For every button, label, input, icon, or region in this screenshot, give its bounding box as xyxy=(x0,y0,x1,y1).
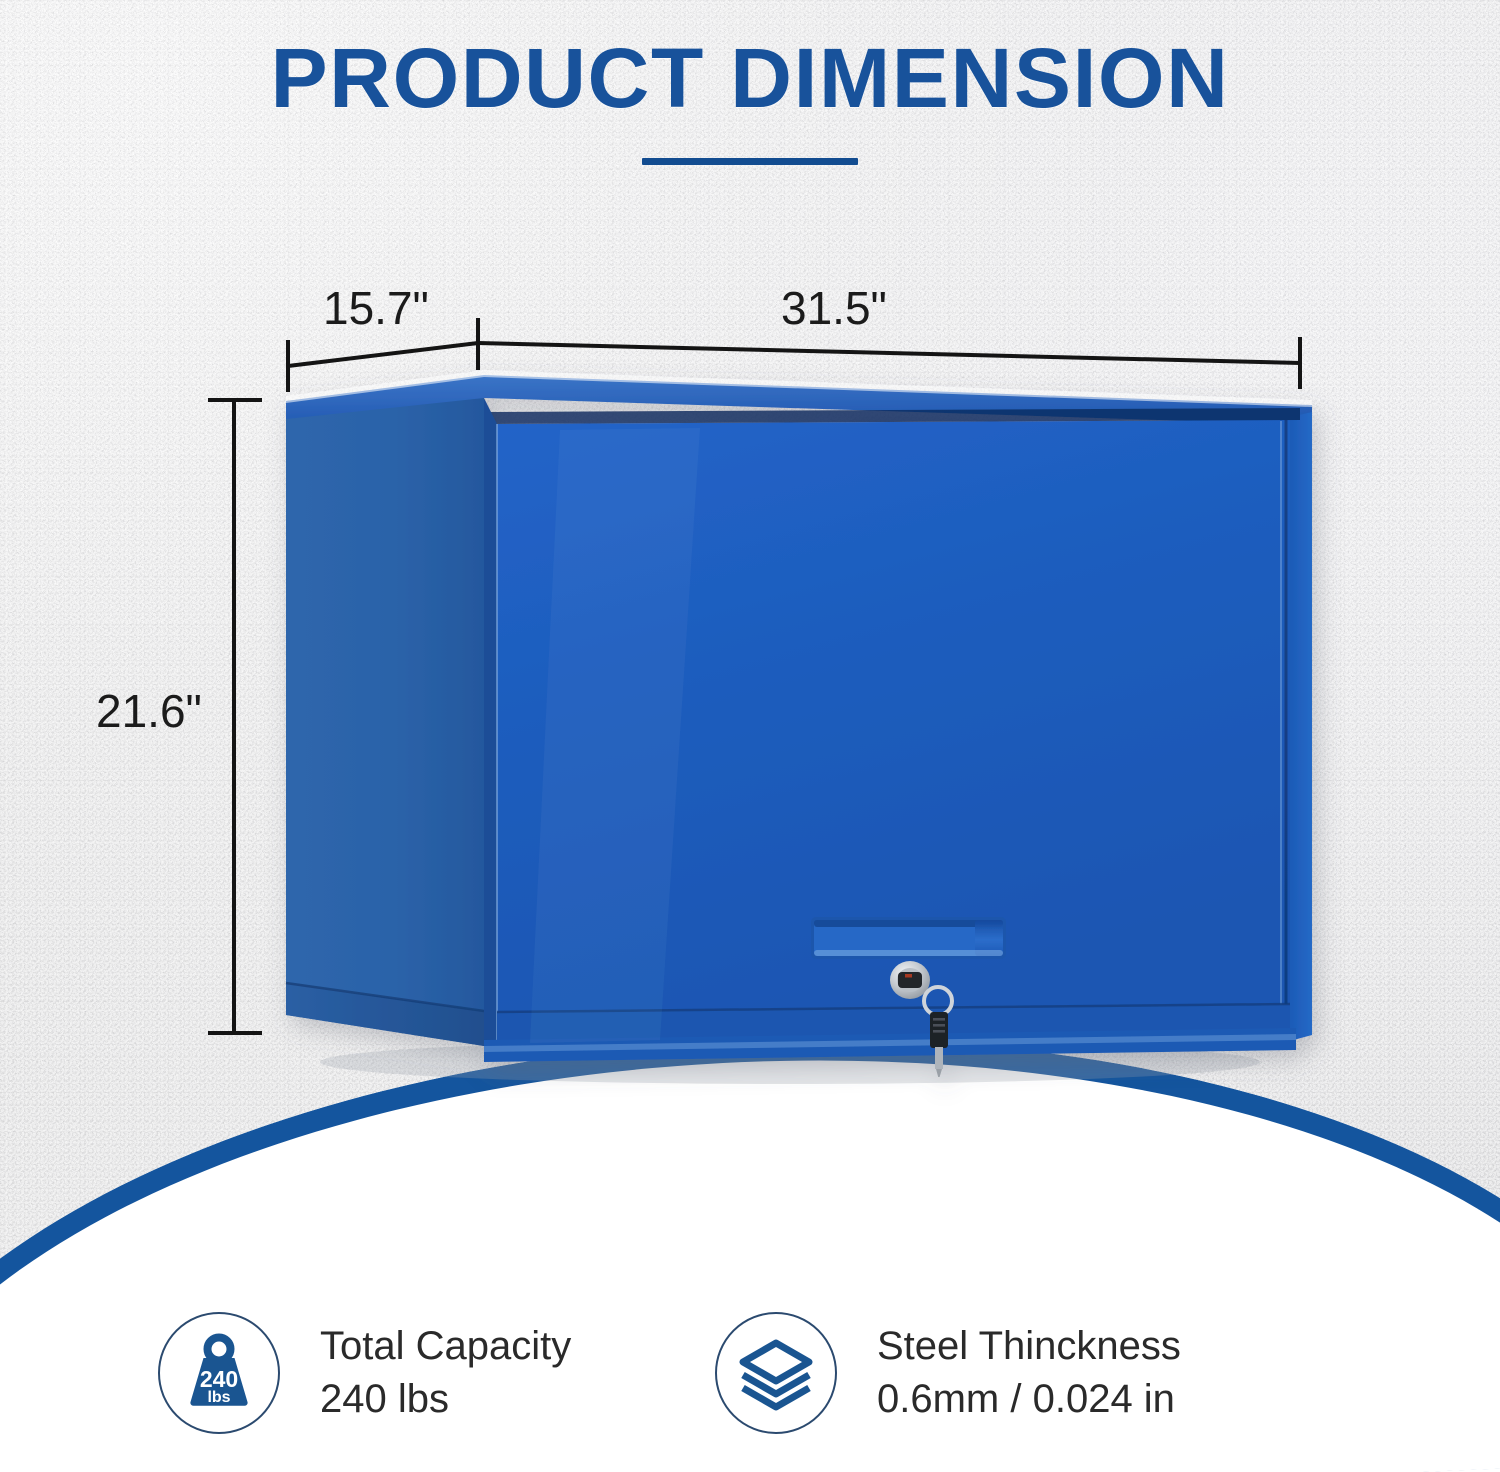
page-title: PRODUCT DIMENSION xyxy=(0,34,1500,122)
feature-steel-thickness: Steel Thinckness 0.6mm / 0.024 in xyxy=(690,1288,1380,1458)
key-fob-ridge-3 xyxy=(933,1030,945,1033)
thickness-line-2: 0.6mm / 0.024 in xyxy=(877,1373,1181,1426)
depth-dimension-label: 15.7" xyxy=(323,281,429,335)
capacity-text: Total Capacity 240 lbs xyxy=(320,1320,571,1426)
key-fob-ridge-2 xyxy=(933,1024,945,1027)
recessed-pull-handle xyxy=(811,917,1006,959)
cabinet-body xyxy=(286,370,1312,1077)
thickness-line-1: Steel Thinckness xyxy=(877,1324,1181,1368)
width-dimension-label: 31.5" xyxy=(781,281,887,335)
feature-row: 240 lbs Total Capacity 240 lbs Steel Thi… xyxy=(0,1288,1500,1458)
capacity-icon-unit: lbs xyxy=(207,1389,230,1406)
header: PRODUCT DIMENSION xyxy=(0,34,1500,165)
handle-top-shade xyxy=(814,920,1003,927)
thickness-text: Steel Thinckness 0.6mm / 0.024 in xyxy=(877,1320,1181,1426)
capacity-line-1: Total Capacity xyxy=(320,1324,571,1368)
cabinet-left-side-panel xyxy=(286,381,484,1046)
height-dimension-label: 21.6" xyxy=(96,684,202,738)
feature-total-capacity: 240 lbs Total Capacity 240 lbs xyxy=(0,1288,690,1458)
capacity-line-2: 240 lbs xyxy=(320,1373,571,1426)
door-left-reveal xyxy=(484,398,497,1046)
capacity-badge: 240 lbs xyxy=(158,1312,280,1434)
key-blade xyxy=(935,1047,943,1069)
thickness-badge xyxy=(715,1312,837,1434)
weight-240lbs-icon: 240 lbs xyxy=(176,1330,262,1416)
stacked-layers-icon xyxy=(733,1330,819,1416)
lock-indicator xyxy=(905,974,912,978)
key-fob-ridge-1 xyxy=(933,1018,945,1021)
handle-bottom-highlight xyxy=(814,950,1003,956)
title-underline-rule xyxy=(642,158,858,165)
product-illustration xyxy=(0,0,1500,1472)
